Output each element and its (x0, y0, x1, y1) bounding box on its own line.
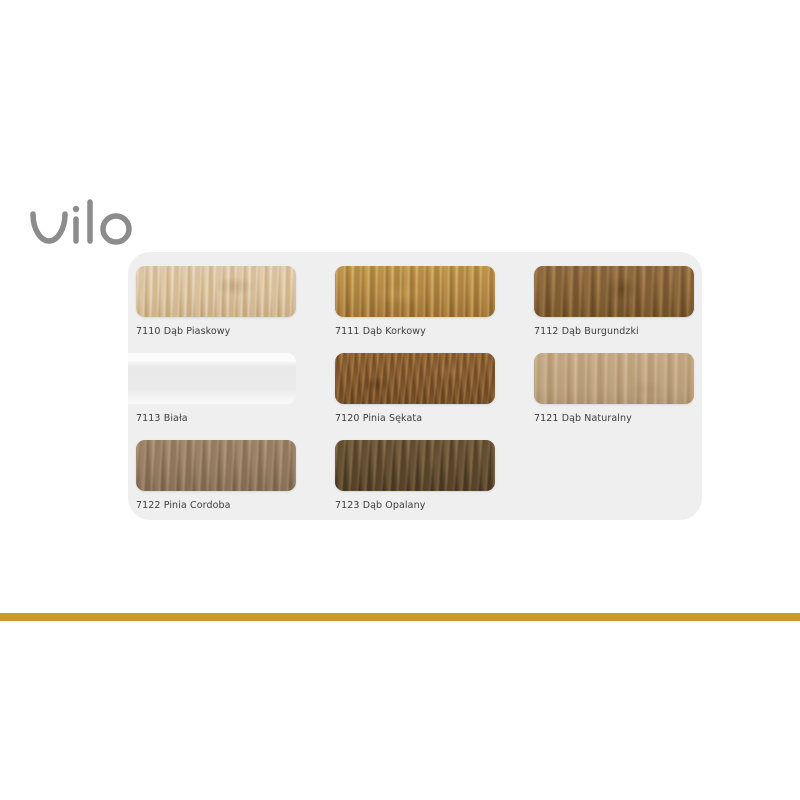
vilo-logo (28, 196, 148, 258)
swatch-label: 7120 Pinia Sękata (335, 413, 495, 425)
product-swatch-page: 7110 Dąb Piaskowy 7111 Dąb Korkowy 7112 … (0, 0, 800, 800)
swatch-label: 7121 Dąb Naturalny (534, 413, 694, 425)
swatch-label: 7123 Dąb Opalany (335, 500, 495, 512)
swatch-chip-7113[interactable] (128, 353, 296, 404)
swatch-label: 7113 Biała (128, 413, 296, 425)
swatch-item-7122[interactable]: 7122 Pinia Cordoba (136, 440, 296, 512)
swatch-item-7112[interactable]: 7112 Dąb Burgundzki (534, 266, 694, 338)
wood-grain-texture (534, 353, 694, 404)
swatch-label: 7111 Dąb Korkowy (335, 326, 495, 338)
swatch-grid: 7110 Dąb Piaskowy 7111 Dąb Korkowy 7112 … (128, 252, 702, 520)
wood-grain-texture (534, 266, 694, 317)
swatch-item-7120[interactable]: 7120 Pinia Sękata (335, 353, 495, 425)
swatch-label: 7110 Dąb Piaskowy (136, 326, 296, 338)
solid-white-texture (128, 353, 296, 404)
swatch-item-7123[interactable]: 7123 Dąb Opalany (335, 440, 495, 512)
swatch-chip-7123[interactable] (335, 440, 495, 491)
swatch-chip-7112[interactable] (534, 266, 694, 317)
swatch-item-7110[interactable]: 7110 Dąb Piaskowy (136, 266, 296, 338)
swatch-item-7121[interactable]: 7121 Dąb Naturalny (534, 353, 694, 425)
swatch-item-7113[interactable]: 7113 Biała (128, 353, 296, 425)
swatch-label: 7112 Dąb Burgundzki (534, 326, 694, 338)
gold-accent-bar (0, 613, 800, 621)
swatch-chip-7110[interactable] (136, 266, 296, 317)
swatch-chip-7122[interactable] (136, 440, 296, 491)
swatch-chip-7111[interactable] (335, 266, 495, 317)
weathered-wood-texture (136, 440, 296, 491)
wood-grain-texture (335, 266, 495, 317)
swatch-chip-7120[interactable] (335, 353, 495, 404)
swatch-card: 7110 Dąb Piaskowy 7111 Dąb Korkowy 7112 … (128, 252, 702, 520)
knotty-pine-texture (335, 353, 495, 404)
swatch-label: 7122 Pinia Cordoba (136, 500, 296, 512)
wood-grain-texture (136, 266, 296, 317)
swatch-item-7111[interactable]: 7111 Dąb Korkowy (335, 266, 495, 338)
swatch-chip-7121[interactable] (534, 353, 694, 404)
scorched-wood-texture (335, 440, 495, 491)
